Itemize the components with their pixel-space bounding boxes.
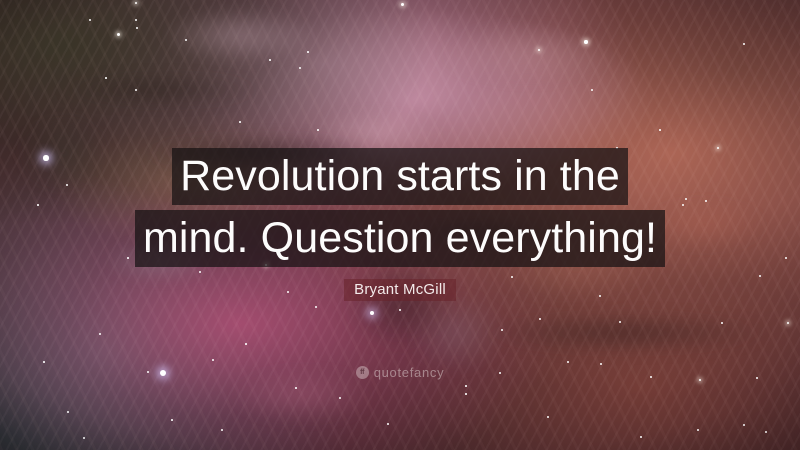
quote-line-1: Revolution starts in the (172, 148, 628, 205)
star (43, 155, 48, 160)
star (370, 311, 375, 316)
star (465, 385, 467, 387)
watermark: ff quotefancy (0, 365, 800, 380)
star (43, 361, 45, 363)
star (135, 2, 138, 5)
star (127, 257, 129, 259)
star (317, 129, 319, 131)
quote-text-block: Revolution starts in the mind. Question … (0, 148, 800, 267)
nebula-cloud-blobs (0, 0, 800, 450)
quote-poster: Revolution starts in the mind. Question … (0, 0, 800, 450)
star (616, 147, 618, 149)
star (117, 33, 120, 36)
star (295, 387, 297, 389)
star-field (0, 0, 800, 450)
star (539, 318, 541, 320)
quote-author: Bryant McGill (344, 279, 456, 301)
quotefancy-badge-icon: ff (356, 366, 369, 379)
star (721, 322, 723, 324)
star (511, 276, 513, 278)
star (185, 39, 187, 41)
vignette-overlay (0, 0, 800, 450)
star (743, 43, 745, 45)
star (83, 437, 85, 439)
nebula-dust-lanes (0, 0, 800, 450)
star (99, 333, 101, 335)
star (339, 397, 341, 399)
star (619, 321, 621, 323)
star (221, 429, 223, 431)
star (584, 40, 587, 43)
star (315, 306, 317, 308)
nebula-color-masses (0, 0, 800, 450)
star (785, 257, 787, 259)
star (66, 184, 68, 186)
star (705, 200, 707, 202)
star (401, 3, 404, 6)
star (697, 429, 699, 431)
star (465, 393, 467, 395)
star (387, 423, 389, 425)
star (640, 436, 642, 438)
star (269, 59, 271, 61)
star (591, 89, 593, 91)
star (538, 49, 541, 52)
nebula-filament-wisps (0, 0, 800, 450)
star (265, 264, 268, 267)
star (199, 271, 201, 273)
star (171, 419, 173, 421)
star (135, 19, 137, 21)
star (547, 416, 549, 418)
attribution-block: Bryant McGill (0, 279, 800, 301)
watermark-brand-label: quotefancy (374, 365, 445, 380)
star (765, 431, 767, 433)
star (567, 361, 569, 363)
star (299, 67, 301, 69)
star (212, 359, 214, 361)
star (37, 204, 39, 206)
star (245, 343, 247, 345)
star (717, 147, 720, 150)
star (307, 51, 309, 53)
star (501, 329, 503, 331)
star (759, 275, 761, 277)
star (89, 19, 91, 21)
star (659, 129, 661, 131)
star (685, 198, 687, 200)
star (743, 424, 745, 426)
star (399, 309, 401, 311)
star (135, 89, 137, 91)
star (239, 121, 241, 123)
quote-line-2: mind. Question everything! (135, 210, 665, 267)
star (105, 77, 107, 79)
star (67, 411, 69, 413)
star (136, 27, 138, 29)
star (682, 204, 684, 206)
nebula-base-layer (0, 0, 800, 450)
star (787, 322, 790, 325)
